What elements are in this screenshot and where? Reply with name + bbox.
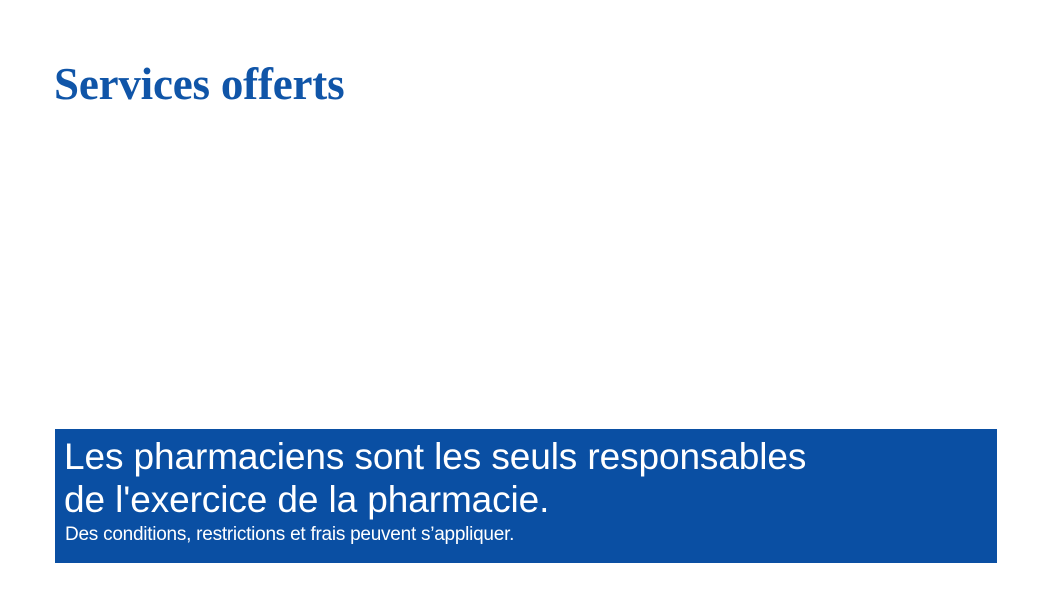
page-title: Services offerts [54,61,344,108]
callout-subtext: Des conditions, restrictions et frais pe… [65,523,987,547]
callout-headline-line-1: Les pharmaciens sont les seuls responsab… [64,435,987,478]
slide-content-area [55,125,997,425]
slide-canvas: Services offerts Les pharmaciens sont le… [0,0,1050,600]
callout-headline-line-2: de l'exercice de la pharmacie. [64,478,987,521]
callout-headline: Les pharmaciens sont les seuls responsab… [64,435,987,521]
callout-banner: Les pharmaciens sont les seuls responsab… [55,429,997,563]
